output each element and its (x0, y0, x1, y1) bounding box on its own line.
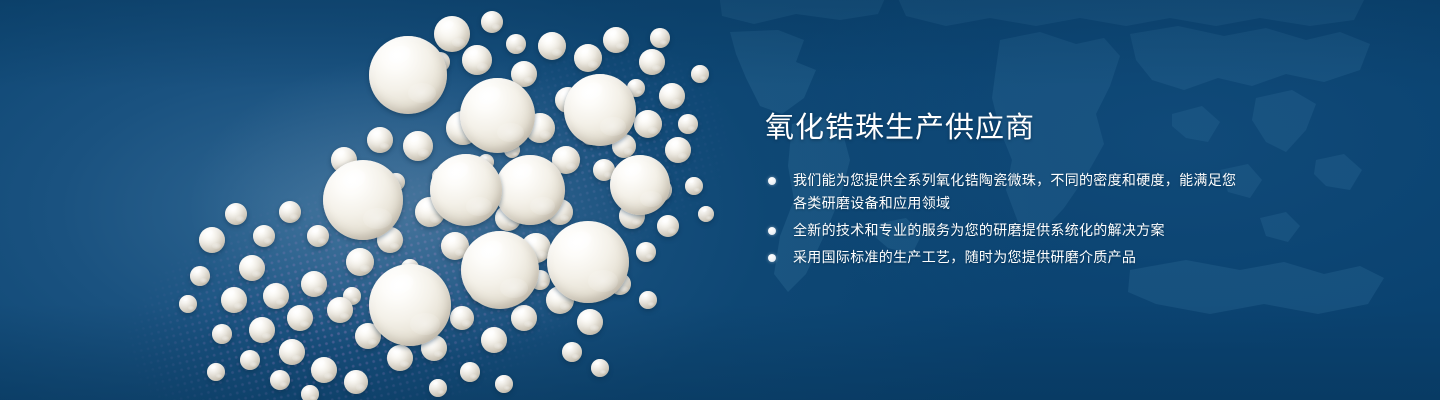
feature-text: 我们能为您提供全系列氧化锆陶瓷微珠，不同的密度和硬度，能满足您各类研磨设备和应用… (793, 173, 1236, 212)
banner-text-block: 氧化锆珠生产供应商 我们能为您提供全系列氧化锆陶瓷微珠，不同的密度和硬度，能满足… (765, 0, 1325, 400)
page-title: 氧化锆珠生产供应商 (765, 110, 1035, 144)
list-item: 采用国际标准的生产工艺，随时为您提供研磨介质产品 (768, 247, 1238, 270)
list-item: 全新的技术和专业的服务为您的研磨提供系统化的解决方案 (768, 220, 1238, 243)
feature-text: 采用国际标准的生产工艺，随时为您提供研磨介质产品 (793, 250, 1136, 266)
product-hero-banner: 氧化锆珠生产供应商 我们能为您提供全系列氧化锆陶瓷微珠，不同的密度和硬度，能满足… (0, 0, 1440, 400)
bullet-dot-icon (768, 177, 776, 185)
list-item: 我们能为您提供全系列氧化锆陶瓷微珠，不同的密度和硬度，能满足您各类研磨设备和应用… (768, 170, 1238, 216)
feature-list: 我们能为您提供全系列氧化锆陶瓷微珠，不同的密度和硬度，能满足您各类研磨设备和应用… (768, 170, 1238, 274)
bullet-dot-icon (768, 227, 776, 235)
bullet-dot-icon (768, 254, 776, 262)
feature-text: 全新的技术和专业的服务为您的研磨提供系统化的解决方案 (793, 223, 1165, 239)
